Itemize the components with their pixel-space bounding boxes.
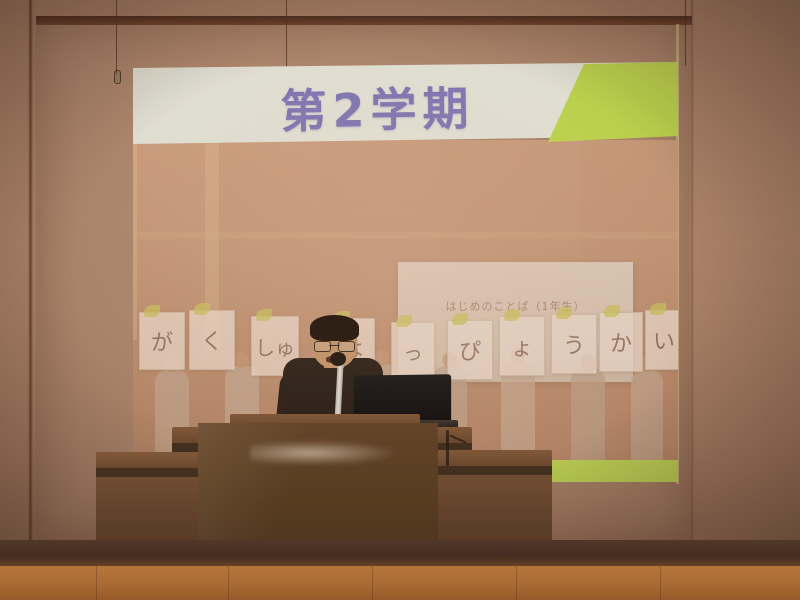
speaker-hair	[310, 315, 359, 341]
speaker-glasses	[314, 341, 355, 350]
stage-floor	[0, 566, 800, 600]
podium-group	[0, 0, 800, 600]
microphone-head	[330, 352, 346, 366]
floor-plank-line	[228, 566, 229, 600]
floor-plank-line	[372, 566, 373, 600]
floor-plank-line	[516, 566, 517, 600]
floor-plank-line	[96, 566, 97, 600]
floor-plank-line	[660, 566, 661, 600]
stage-edge-shadow	[0, 540, 800, 568]
photograph: はじめのことば（1年生） が く しゅ は っ ぴ ょ う か い	[0, 0, 800, 600]
podium-glare	[250, 440, 400, 466]
